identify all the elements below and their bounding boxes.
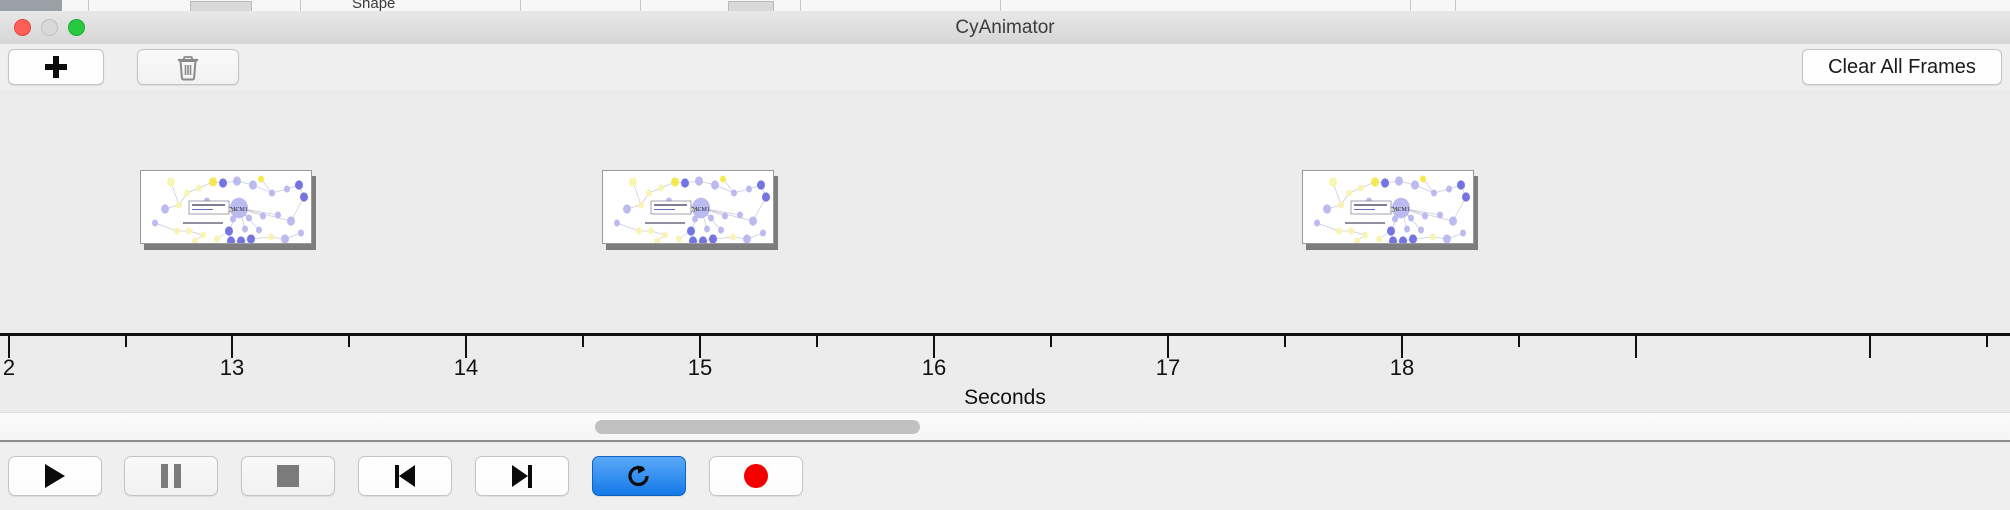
ruler-tick-minor — [1986, 336, 1988, 347]
ruler-tick-minor — [1518, 336, 1520, 347]
svg-text:MCM1: MCM1 — [1392, 207, 1410, 213]
plus-icon — [45, 56, 67, 78]
skip-start-button[interactable] — [358, 456, 452, 496]
skip-end-button[interactable] — [475, 456, 569, 496]
stop-icon — [277, 465, 299, 487]
play-icon — [45, 464, 65, 488]
ruler-tick-minor — [1635, 336, 1637, 347]
record-button[interactable] — [709, 456, 803, 496]
frame-thumbnail[interactable]: MCM1 — [602, 170, 774, 244]
ruler-axis-line — [0, 333, 2010, 336]
clear-all-frames-button[interactable]: Clear All Frames — [1802, 49, 2002, 85]
horizontal-scrollbar-thumb[interactable] — [595, 420, 920, 434]
ruler-tick-label: 17 — [1138, 355, 1198, 381]
transport-bar: Animation Speed: — [0, 444, 2010, 510]
svg-text:MCM1: MCM1 — [692, 207, 710, 213]
ruler-tick-label: 13 — [202, 355, 262, 381]
ruler-tick-minor — [125, 336, 127, 347]
delete-frame-button[interactable] — [137, 49, 239, 85]
ruler-tick-minor — [816, 336, 818, 347]
skip-end-icon — [512, 465, 532, 488]
ruler-tick-minor — [1869, 336, 1871, 347]
frame-thumbnail[interactable]: MCM1 — [140, 170, 312, 244]
timeline-panel[interactable]: MCM1MCM1MCM1 2131415161718 Seconds — [0, 90, 2010, 412]
ruler-tick-label: 16 — [904, 355, 964, 381]
record-icon — [744, 464, 768, 488]
play-button[interactable] — [8, 456, 102, 496]
pause-button[interactable] — [124, 456, 218, 496]
window-title: CyAnimator — [0, 11, 2010, 44]
frame-preview: MCM1 — [602, 170, 774, 244]
title-bar[interactable]: CyAnimator — [0, 11, 2010, 45]
skip-start-icon — [395, 465, 415, 488]
toolbar: Clear All Frames — [0, 44, 2010, 91]
timeline-ruler[interactable]: 2131415161718 Seconds — [0, 333, 2010, 412]
svg-text:MCM1: MCM1 — [230, 207, 248, 213]
background-app-label: Shape — [352, 0, 395, 11]
ruler-tick-minor — [348, 336, 350, 347]
frame-thumbnail[interactable]: MCM1 — [1302, 170, 1474, 244]
ruler-tick-label: 2 — [0, 355, 39, 381]
cyanimator-window: Shape CyAnimator Cl — [0, 0, 2010, 510]
clear-all-frames-label: Clear All Frames — [1828, 56, 1976, 79]
ruler-tick-label: 15 — [670, 355, 730, 381]
ruler-tick-minor — [1050, 336, 1052, 347]
loop-icon — [625, 462, 653, 490]
background-app-sliver: Shape — [0, 0, 2010, 11]
ruler-axis-title: Seconds — [0, 386, 2010, 410]
stop-button[interactable] — [241, 456, 335, 496]
frame-preview: MCM1 — [140, 170, 312, 244]
ruler-tick-minor — [582, 336, 584, 347]
frame-preview: MCM1 — [1302, 170, 1474, 244]
loop-button[interactable] — [592, 456, 686, 496]
trash-icon — [176, 54, 200, 81]
pause-icon — [161, 464, 181, 488]
ruler-tick-label: 14 — [436, 355, 496, 381]
ruler-tick-label: 18 — [1372, 355, 1432, 381]
ruler-tick-minor — [1284, 336, 1286, 347]
horizontal-scrollbar[interactable] — [0, 412, 2010, 442]
add-frame-button[interactable] — [8, 49, 104, 85]
